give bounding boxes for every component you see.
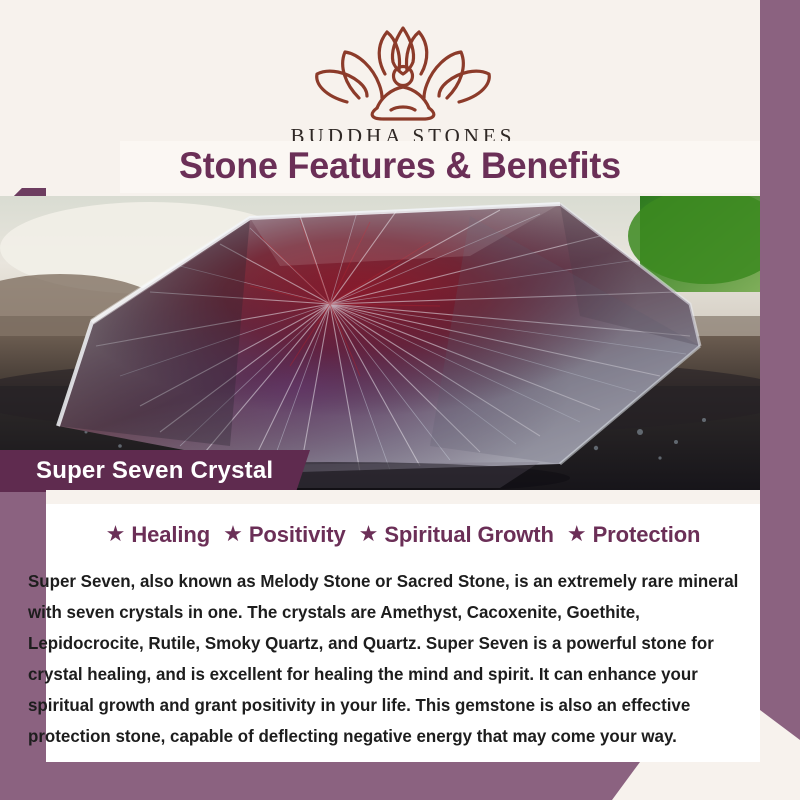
benefit-label: Positivity [249, 522, 346, 548]
benefit-item-protection: ★ Protection [567, 522, 701, 548]
benefit-item-positivity: ★ Positivity [223, 522, 346, 548]
stone-name-label: Super Seven Crystal [36, 457, 273, 485]
brand-logo: BUDDHA STONES [46, 18, 760, 149]
infographic-poster: BUDDHA STONES Stone Features & Benefits [0, 0, 800, 800]
frame-accent-bottom [0, 762, 640, 800]
star-icon: ★ [359, 523, 379, 545]
stone-name-banner: Super Seven Crystal [0, 450, 310, 492]
star-icon: ★ [106, 523, 126, 545]
benefit-label: Protection [593, 522, 701, 548]
benefit-item-healing: ★ Healing [106, 522, 211, 548]
benefit-label: Healing [131, 522, 210, 548]
benefit-item-spiritual-growth: ★ Spiritual Growth [359, 522, 554, 548]
description-text: Super Seven, also known as Melody Stone … [28, 566, 759, 752]
star-icon: ★ [223, 523, 243, 545]
lotus-meditation-icon [46, 18, 760, 122]
star-icon: ★ [567, 523, 587, 545]
frame-accent-right [760, 0, 800, 740]
benefit-label: Spiritual Growth [384, 522, 554, 548]
stone-photo [0, 196, 760, 490]
benefits-list: ★ Healing ★ Positivity ★ Spiritual Growt… [46, 522, 760, 548]
page-title: Stone Features & Benefits [12, 140, 788, 192]
panel-top-strip [46, 490, 760, 504]
